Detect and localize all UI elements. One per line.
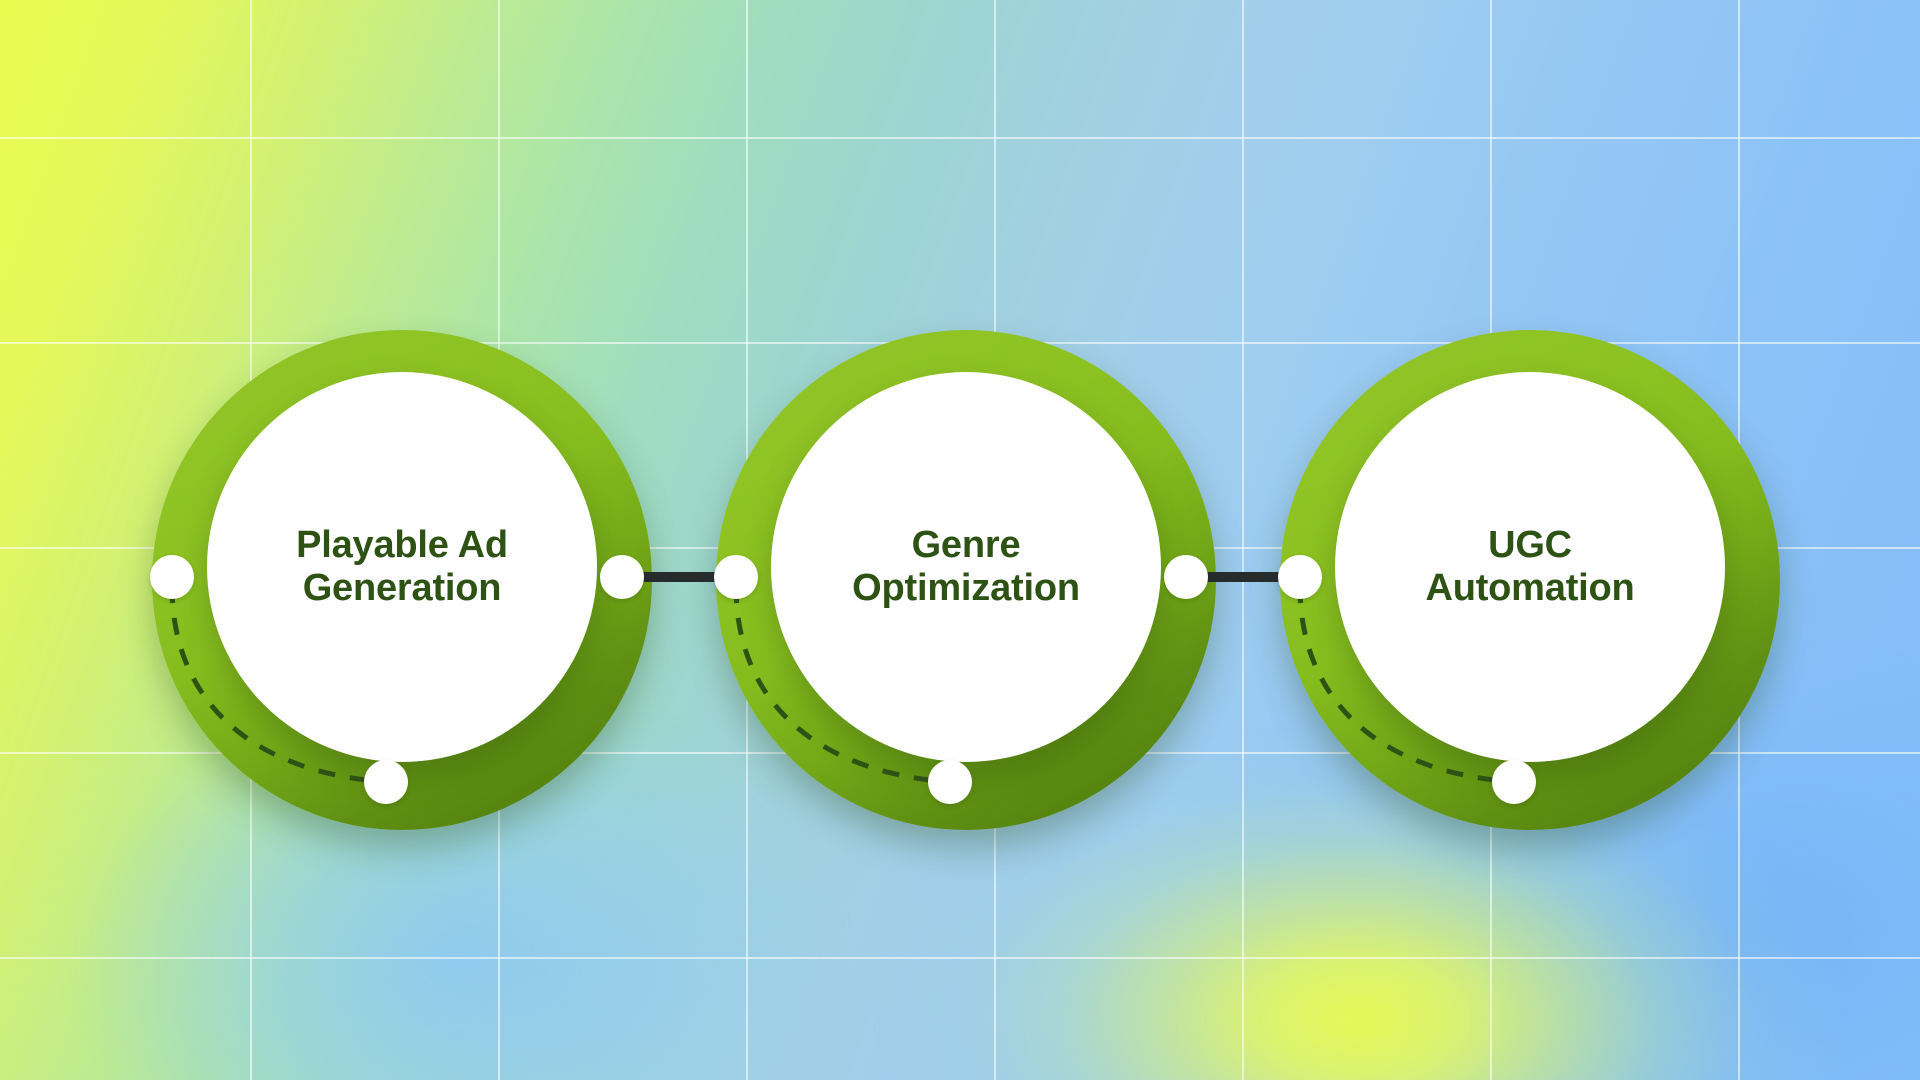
node-inner-circle: UGC Automation (1335, 372, 1725, 762)
node-label: UGC Automation (1411, 524, 1648, 609)
node-1-dot-bottom[interactable] (364, 760, 408, 804)
grid-line-vertical (1242, 0, 1244, 1080)
grid-line-horizontal (0, 957, 1920, 959)
grid-line-horizontal (0, 137, 1920, 139)
diagram-canvas: Playable Ad Generation Genre Optimizatio… (0, 0, 1920, 1080)
process-node-2[interactable]: Genre Optimization (716, 330, 1216, 830)
node-3-dot-bottom[interactable] (1492, 760, 1536, 804)
node-1-dot-right[interactable] (600, 555, 644, 599)
node-3-dot-left[interactable] (1278, 555, 1322, 599)
node-inner-circle: Playable Ad Generation (207, 372, 597, 762)
node-label: Genre Optimization (838, 524, 1094, 609)
process-node-1[interactable]: Playable Ad Generation (152, 330, 652, 830)
node-1-dot-left[interactable] (150, 555, 194, 599)
process-node-3[interactable]: UGC Automation (1280, 330, 1780, 830)
node-2-dot-left[interactable] (714, 555, 758, 599)
node-inner-circle: Genre Optimization (771, 372, 1161, 762)
node-label: Playable Ad Generation (282, 524, 522, 609)
node-2-dot-right[interactable] (1164, 555, 1208, 599)
node-2-dot-bottom[interactable] (928, 760, 972, 804)
